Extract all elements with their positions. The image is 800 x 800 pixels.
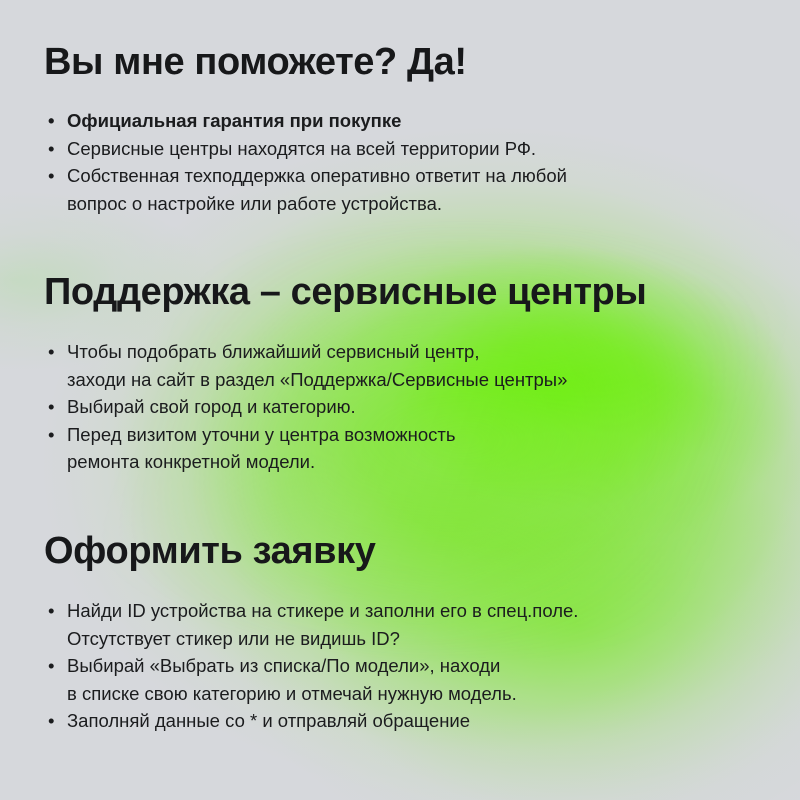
list-item-line: в списке свою категорию и отмечай нужную…	[67, 683, 517, 704]
list-item: Официальная гарантия при покупке	[44, 107, 756, 135]
list-item: Выбирай свой город и категорию.	[44, 393, 770, 421]
list-item-line: Собственная техподдержка оперативно отве…	[67, 165, 567, 186]
section-warranty: Вы мне поможете? Да! Официальная гаранти…	[44, 42, 756, 217]
list-item-line: Выбирай «Выбрать из списка/По модели», н…	[67, 655, 500, 676]
section-service-centers-list: Чтобы подобрать ближайший сервисный цент…	[44, 338, 770, 476]
list-item-line: Найди ID устройства на стикере и заполни…	[67, 600, 578, 621]
list-item: Перед визитом уточни у центра возможност…	[44, 421, 770, 476]
list-item: Чтобы подобрать ближайший сервисный цент…	[44, 338, 770, 393]
list-item-line: Перед визитом уточни у центра возможност…	[67, 424, 456, 445]
list-item-line: Чтобы подобрать ближайший сервисный цент…	[67, 341, 479, 362]
list-item: Выбирай «Выбрать из списка/По модели», н…	[44, 652, 756, 707]
list-item-line: Отсутствует стикер или не видишь ID?	[67, 628, 400, 649]
section-warranty-list: Официальная гарантия при покупке Сервисн…	[44, 107, 756, 217]
list-item: Заполняй данные со * и отправляй обращен…	[44, 707, 756, 735]
section-submit-request-list: Найди ID устройства на стикере и заполни…	[44, 597, 756, 735]
section-submit-request-title: Оформить заявку	[44, 531, 756, 572]
list-item-text: Заполняй данные со * и отправляй обращен…	[67, 710, 470, 731]
list-item: Собственная техподдержка оперативно отве…	[44, 162, 756, 217]
list-item-text: Официальная гарантия при покупке	[67, 110, 401, 131]
list-item: Найди ID устройства на стикере и заполни…	[44, 597, 756, 652]
list-item-line: вопрос о настройке или работе устройства…	[67, 193, 442, 214]
poster-content: Вы мне поможете? Да! Официальная гаранти…	[0, 0, 800, 800]
list-item-line: ремонта конкретной модели.	[67, 451, 315, 472]
section-submit-request: Оформить заявку Найди ID устройства на с…	[44, 531, 756, 735]
poster-canvas: Вы мне поможете? Да! Официальная гаранти…	[0, 0, 800, 800]
list-item: Сервисные центры находятся на всей терри…	[44, 135, 756, 163]
list-item-text: Выбирай свой город и категорию.	[67, 396, 356, 417]
section-service-centers-title: Поддержка – сервисные центры	[44, 272, 770, 313]
section-service-centers: Поддержка – сервисные центры Чтобы подоб…	[44, 272, 770, 476]
list-item-line: заходи на сайт в раздел «Поддержка/Серви…	[67, 369, 567, 390]
section-warranty-title: Вы мне поможете? Да!	[44, 42, 756, 83]
list-item-text: Сервисные центры находятся на всей терри…	[67, 138, 536, 159]
